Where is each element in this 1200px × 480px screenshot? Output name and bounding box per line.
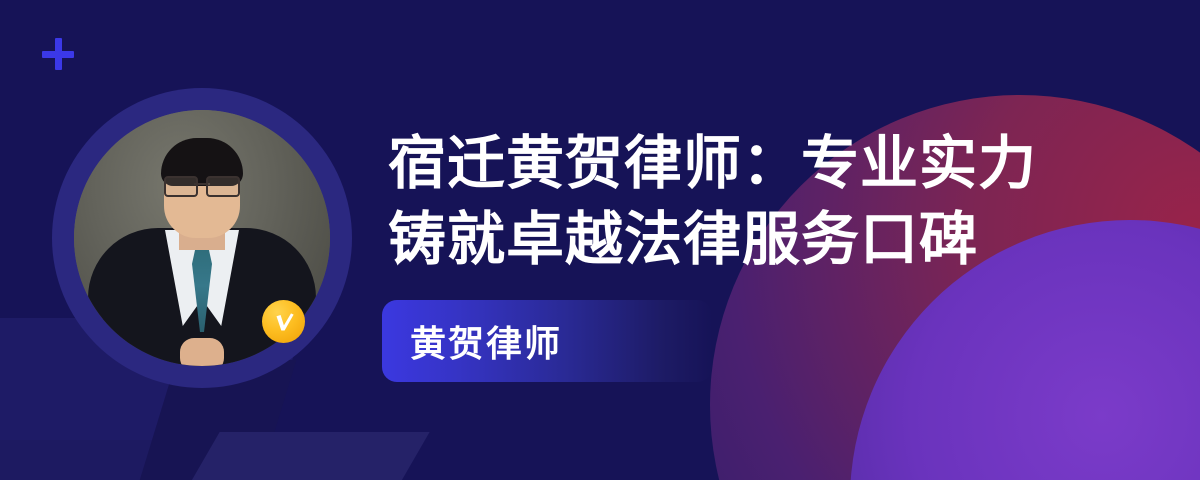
glasses-bridge [194, 183, 210, 185]
avatar [52, 88, 352, 388]
decor-left-shape-c [150, 432, 429, 480]
plus-icon [42, 38, 74, 70]
portrait-hands [180, 338, 224, 366]
promo-banner: 宿迁黄贺律师：专业实力 铸就卓越法律服务口碑 黄贺律师 [0, 0, 1200, 480]
glasses-icon [163, 176, 241, 194]
decor-left-shape-d [0, 440, 210, 480]
headline-line-1: 宿迁黄贺律师：专业实力 [388, 126, 1088, 202]
lawyer-name-button[interactable]: 黄贺律师 [382, 300, 712, 382]
verified-v-badge-icon [262, 300, 305, 343]
headline-line-2: 铸就卓越法律服务口碑 [388, 202, 1088, 278]
lawyer-name-button-label: 黄贺律师 [382, 315, 562, 367]
page-title: 宿迁黄贺律师：专业实力 铸就卓越法律服务口碑 [388, 126, 1088, 278]
